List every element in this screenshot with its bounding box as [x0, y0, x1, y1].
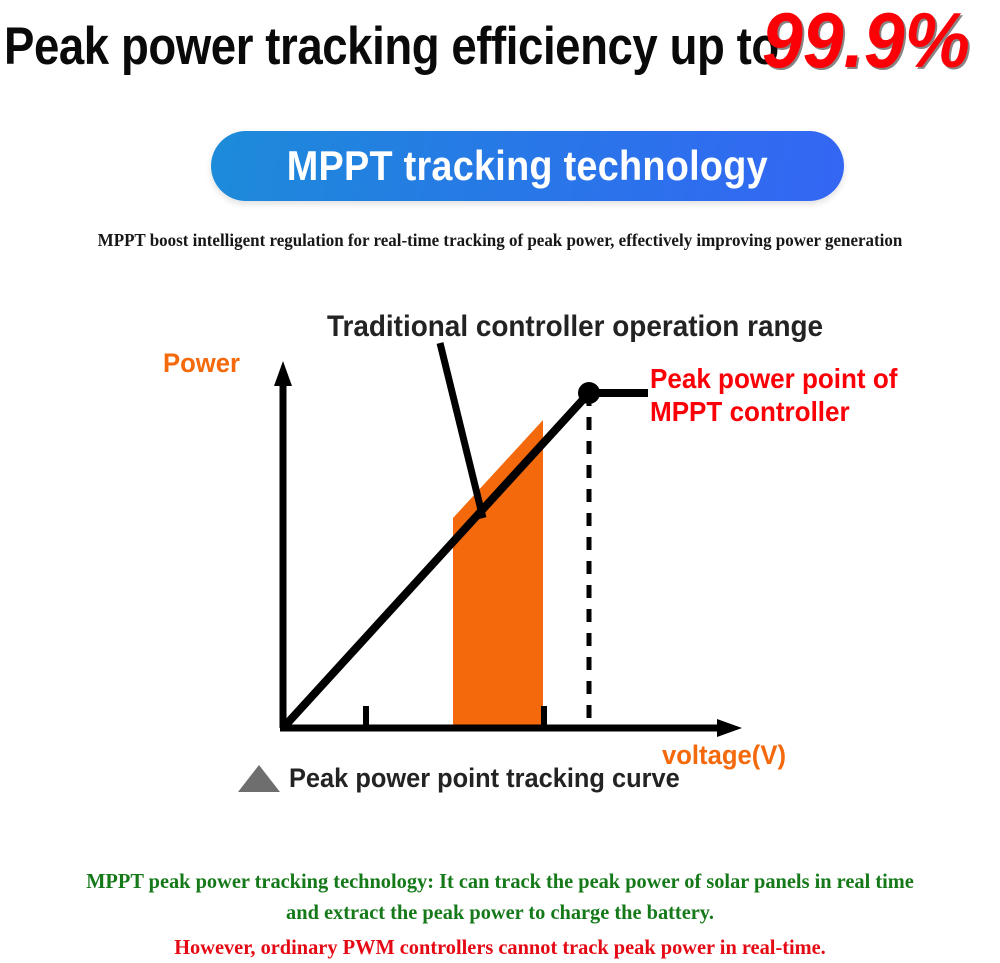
- headline-main-text: Peak power tracking efficiency up to: [4, 18, 779, 76]
- triangle-up-icon: [238, 765, 280, 792]
- annotation-peak-power-line1: Peak power point of: [650, 362, 897, 395]
- traditional-operation-range-band: [453, 420, 543, 728]
- mppt-power-voltage-chart: Power voltage(V) Traditional controller …: [0, 290, 1000, 820]
- footer-line-3: However, ordinary PWM controllers cannot…: [15, 932, 985, 963]
- annotation-peak-power-point: Peak power point of MPPT controller: [650, 362, 897, 428]
- section-subtitle: MPPT boost intelligent regulation for re…: [15, 229, 985, 251]
- footer-line-2: and extract the peak power to charge the…: [15, 897, 985, 928]
- x-axis-arrowhead: [717, 719, 742, 737]
- headline-efficiency-value: 99.9%: [762, 0, 970, 82]
- chart-legend: Peak power point tracking curve: [238, 763, 705, 793]
- legend-label: Peak power point tracking curve: [289, 763, 680, 793]
- footer-line-1: MPPT peak power tracking technology: It …: [15, 866, 985, 897]
- peak-power-point-marker: [578, 382, 600, 404]
- headline-banner: Peak power tracking efficiency up to 99.…: [0, 0, 1000, 96]
- annotation-traditional-range: Traditional controller operation range: [327, 310, 823, 344]
- section-title-pill: MPPT tracking technology: [211, 131, 844, 201]
- section-title-label: MPPT tracking technology: [287, 143, 768, 189]
- footer-description: MPPT peak power tracking technology: It …: [15, 866, 985, 963]
- y-axis-label: Power: [163, 348, 240, 378]
- traditional-range-leader-line: [440, 343, 483, 518]
- annotation-peak-power-line2: MPPT controller: [650, 395, 897, 428]
- y-axis-arrowhead: [274, 361, 292, 386]
